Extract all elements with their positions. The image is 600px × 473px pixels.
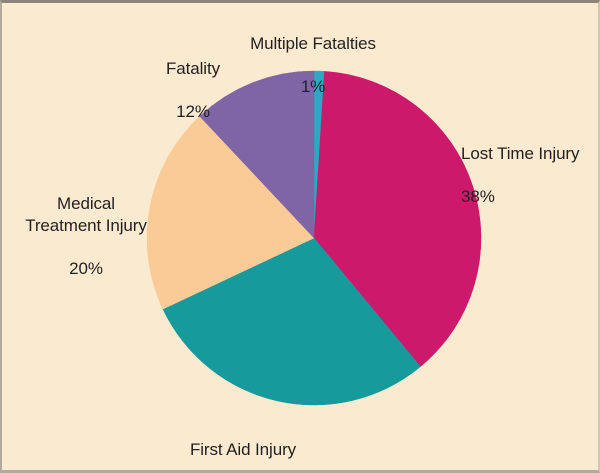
slice-label-name: Lost Time Injury <box>461 143 600 165</box>
pie-chart-figure: Multiple Fatalties 1% Fatality 12% Lost … <box>0 0 600 473</box>
slice-label-first-aid-injury: First Aid Injury 29% <box>143 417 343 473</box>
slice-label-fatality: Fatality 12% <box>133 36 253 145</box>
slice-label-percent: 20% <box>11 258 161 280</box>
slice-label-name: Medical Treatment Injury <box>11 193 161 237</box>
slice-label-name: Fatality <box>133 58 253 80</box>
slice-label-name: First Aid Injury <box>143 439 343 461</box>
slice-label-medical-treatment-injury: Medical Treatment Injury 20% <box>11 171 161 302</box>
slice-label-percent: 12% <box>133 101 253 123</box>
slice-label-percent: 38% <box>461 186 600 208</box>
slice-label-lost-time-injury: Lost Time Injury 38% <box>461 121 600 230</box>
